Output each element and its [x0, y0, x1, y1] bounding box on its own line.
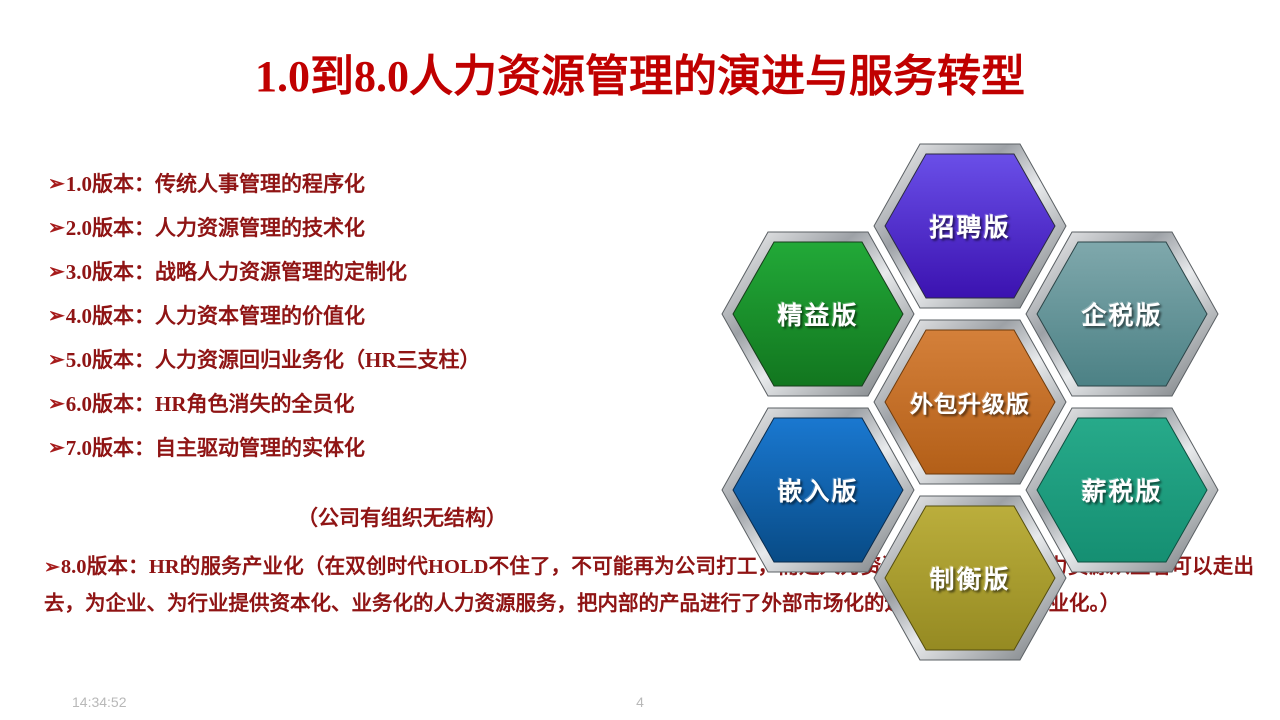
list-item-label: 人力资源回归业务化（HR三支柱）: [155, 344, 481, 374]
arrow-bullet-icon: ➢: [44, 557, 60, 578]
list-item: ➢ 4.0版本： 人力资本管理的价值化: [48, 300, 668, 344]
hex-cell-bottom[interactable]: 制衡版: [870, 492, 1070, 664]
list-item: ➢ 5.0版本： 人力资源回归业务化（HR三支柱）: [48, 344, 668, 388]
list-item: ➢ 3.0版本： 战略人力资源管理的定制化: [48, 256, 668, 300]
list-item-version: 7.0版本：: [66, 432, 155, 462]
list-item-label: HR角色消失的全员化: [155, 388, 355, 418]
list-item: ➢ 2.0版本： 人力资源管理的技术化: [48, 212, 668, 256]
list-item-version: 2.0版本：: [66, 212, 155, 242]
list-item-version: 1.0版本：: [66, 168, 155, 198]
list-item-version: 6.0版本：: [66, 388, 155, 418]
arrow-bullet-icon: ➢: [48, 174, 65, 194]
arrow-bullet-icon: ➢: [48, 350, 65, 370]
list-item-label: 战略人力资源管理的定制化: [155, 256, 407, 286]
list-item-version: 4.0版本：: [66, 300, 155, 330]
bullet-list: ➢ 1.0版本： 传统人事管理的程序化 ➢ 2.0版本： 人力资源管理的技术化 …: [48, 168, 668, 476]
list-item-version: 3.0版本：: [66, 256, 155, 286]
arrow-bullet-icon: ➢: [48, 438, 65, 458]
page-title: 1.0到8.0人力资源管理的演进与服务转型: [0, 40, 1280, 104]
list-item: ➢ 6.0版本： HR角色消失的全员化: [48, 388, 668, 432]
footer-page-number: 4: [0, 694, 1280, 710]
list-item-label: 传统人事管理的程序化: [155, 168, 365, 198]
arrow-bullet-icon: ➢: [48, 218, 65, 238]
list-item: ➢ 1.0版本： 传统人事管理的程序化: [48, 168, 668, 212]
honeycomb-diagram: 招聘版 精益版: [700, 140, 1240, 680]
list-item-label: 人力资本管理的价值化: [155, 300, 365, 330]
arrow-bullet-icon: ➢: [48, 262, 65, 282]
list-item-label: 人力资源管理的技术化: [155, 212, 365, 242]
arrow-bullet-icon: ➢: [48, 394, 65, 414]
list-item: ➢ 7.0版本： 自主驱动管理的实体化: [48, 432, 668, 476]
sub-note-text: （公司有组织无结构）: [48, 502, 668, 532]
paragraph-version: 8.0版本：: [61, 556, 149, 578]
arrow-bullet-icon: ➢: [48, 306, 65, 326]
list-item-version: 5.0版本：: [66, 344, 155, 374]
list-item-label: 自主驱动管理的实体化: [155, 432, 365, 462]
